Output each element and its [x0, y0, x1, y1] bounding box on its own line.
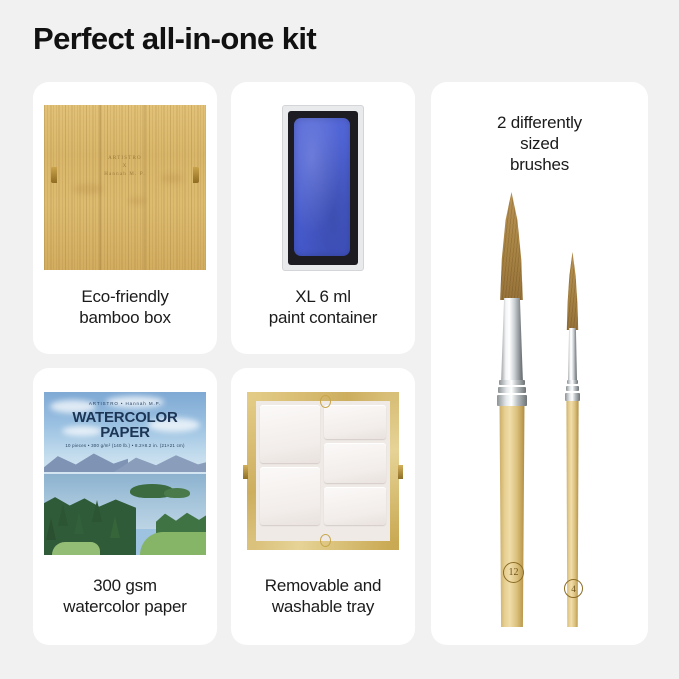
watercolor-paper-image: ARTISTRO • Hannah M.P. WATERCOLOR PAPER … [44, 392, 206, 555]
card-caption-brushes: 2 differently sized brushes [431, 112, 648, 175]
brush-size-badge-large: 12 [503, 562, 524, 583]
tray-clasp-top-icon [320, 395, 331, 408]
page-title: Perfect all-in-one kit [33, 20, 316, 57]
card-caption-bamboo-box: Eco-friendly bamboo box [33, 286, 217, 328]
card-caption-paint-container: XL 6 ml paint container [231, 286, 415, 328]
palette-well [324, 405, 386, 439]
paint-container-image [282, 105, 364, 271]
tray-hinge-right-icon [398, 465, 403, 479]
removable-tray-image [247, 392, 399, 550]
paper-specs-text: 10 pieces • 300 g/m² (140 lb.) • 8.2×8.2… [44, 443, 206, 448]
card-caption-watercolor-paper: 300 gsm watercolor paper [33, 575, 217, 617]
card-caption-removable-tray: Removable and washable tray [231, 575, 415, 617]
card-watercolor-paper[interactable]: ARTISTRO • Hannah M.P. WATERCOLOR PAPER … [33, 368, 217, 645]
blue-paint-block [294, 118, 350, 256]
bamboo-engraving-text: ARTISTRO X Hannah M. P. [44, 155, 206, 179]
palette-well [260, 405, 320, 463]
card-removable-tray[interactable]: Removable and washable tray [231, 368, 415, 645]
palette-well [260, 467, 320, 525]
paint-pan-recess [288, 111, 358, 265]
palette-well [324, 487, 386, 525]
box-hinge-right-icon [193, 167, 199, 183]
paper-title-text: WATERCOLOR PAPER [44, 410, 206, 440]
bamboo-box-image: ARTISTRO X Hannah M. P. [44, 105, 206, 270]
paper-brand-text: ARTISTRO • Hannah M.P. [44, 401, 206, 406]
card-brushes[interactable]: 2 differently sized brushes 12 4 [431, 82, 648, 645]
card-bamboo-box[interactable]: ARTISTRO X Hannah M. P. Eco-friendly bam… [33, 82, 217, 354]
tray-hinge-left-icon [243, 465, 248, 479]
tray-clasp-bottom-icon [320, 534, 331, 547]
tray-palette-surface [256, 401, 390, 541]
card-paint-container[interactable]: XL 6 ml paint container [231, 82, 415, 354]
box-hinge-left-icon [51, 167, 57, 183]
brush-size-badge-small: 4 [564, 579, 583, 598]
palette-well [324, 443, 386, 483]
